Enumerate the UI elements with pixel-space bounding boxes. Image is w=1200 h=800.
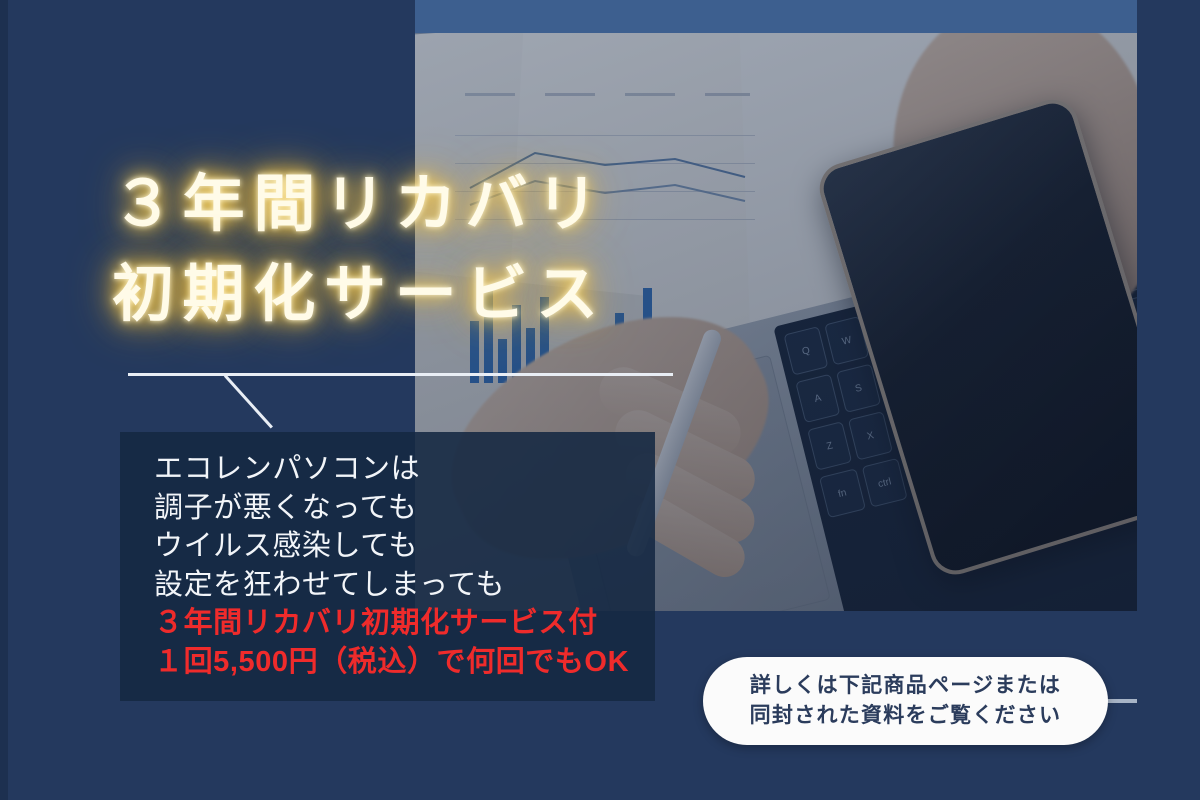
description-box: エコレンパソコンは 調子が悪くなっても ウイルス感染しても 設定を狂わせてしまっ… [120, 432, 655, 701]
description-line-4: 設定を狂わせてしまっても [154, 566, 629, 605]
callout-line-2: 同封された資料をご覧ください [750, 701, 1062, 731]
description-line-3: ウイルス感染しても [154, 527, 629, 566]
promo-banner: Q W E R T Y U I O P A S D [0, 0, 1200, 800]
callout-line-1: 詳しくは下記商品ページまたは [750, 671, 1061, 701]
headline: ３年間リカバリ 初期化サービス [112, 160, 852, 340]
frame-left-edge [0, 0, 8, 800]
highlight-line-1: ３年間リカバリ初期化サービス付 [154, 604, 629, 643]
callout-pill: 詳しくは下記商品ページまたは 同封された資料をご覧ください [703, 657, 1108, 745]
description-line-2: 調子が悪くなっても [154, 489, 629, 528]
headline-line-2: 初期化サービス [112, 250, 852, 340]
divider-line [128, 373, 673, 376]
description-line-1: エコレンパソコンは [154, 450, 629, 489]
headline-line-1: ３年間リカバリ [112, 170, 607, 239]
highlight-line-2: １回5,500円（税込）で何回でもOK [154, 643, 629, 682]
